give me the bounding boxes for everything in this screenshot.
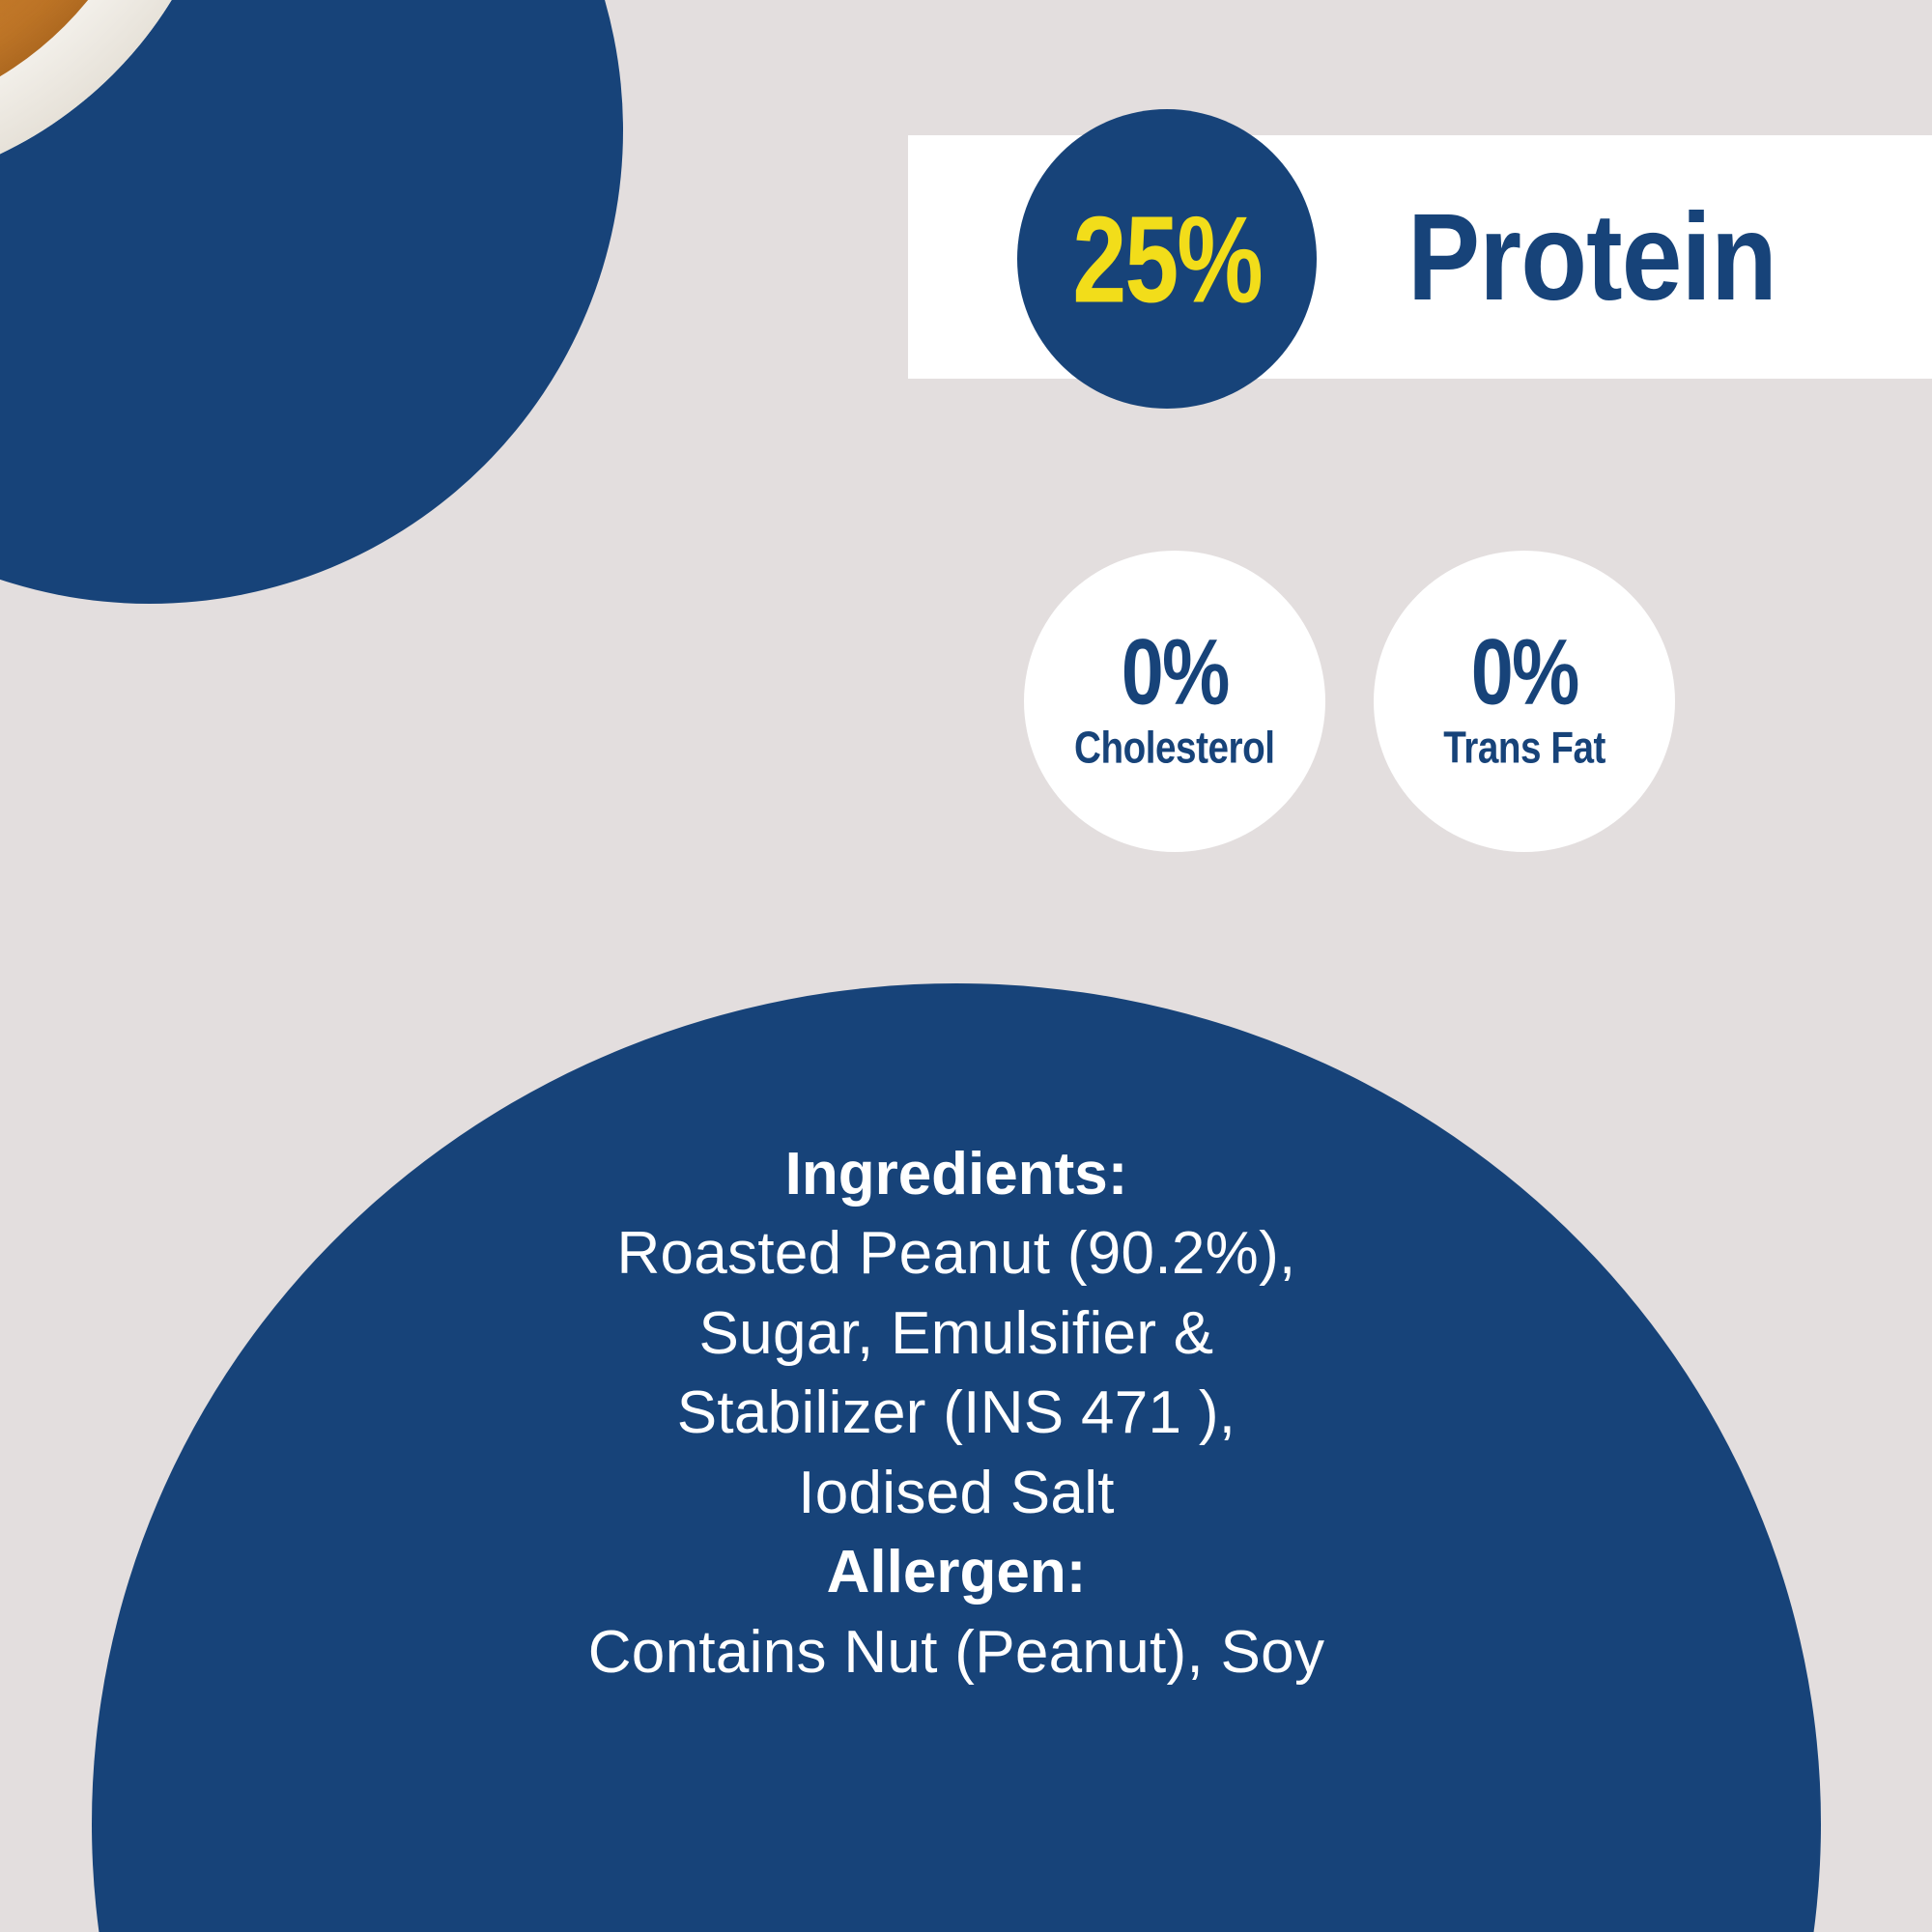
protein-label: Protein [1407,170,1776,344]
stat-circle-trans-fat: 0% Trans Fat [1374,551,1675,852]
allergen-heading: Allergen: [261,1533,1652,1612]
protein-percent-value: 25% [1072,187,1261,330]
stat-circle-cholesterol: 0% Cholesterol [1024,551,1325,852]
ingredients-heading: Ingredients: [261,1135,1652,1214]
ingredients-line: Stabilizer (INS 471 ), [261,1374,1652,1453]
ingredients-line: Roasted Peanut (90.2%), [261,1214,1652,1293]
ingredients-text-block: Ingredients: Roasted Peanut (90.2%), Sug… [261,1135,1652,1692]
cholesterol-value: 0% [1122,631,1229,717]
trans-fat-label: Trans Fat [1443,724,1605,769]
protein-percent-badge: 25% [1017,109,1317,409]
nutrition-infographic: Protein 25% 0% Cholesterol 0% Trans Fat … [0,0,1932,1932]
trans-fat-value: 0% [1471,631,1578,717]
product-photo [0,0,232,193]
allergen-line: Contains Nut (Peanut), Soy [261,1613,1652,1692]
cholesterol-label: Cholesterol [1074,724,1275,769]
ingredients-line: Sugar, Emulsifier & [261,1294,1652,1374]
ingredients-line: Iodised Salt [261,1454,1652,1533]
product-photo-ring [0,0,623,604]
